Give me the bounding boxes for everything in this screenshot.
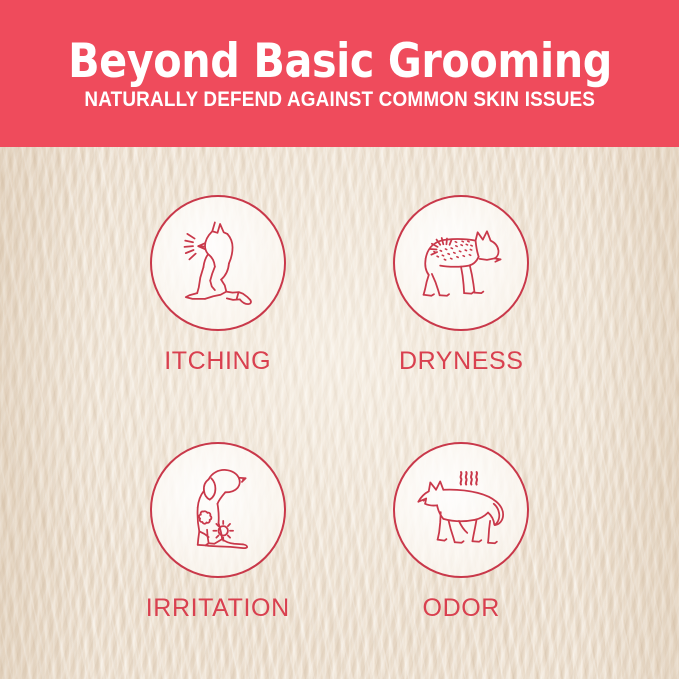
feature-item-irritation: IRRITATION [96,408,340,655]
feature-item-odor: ODOR [340,408,584,655]
feature-label-odor: ODOR [423,596,500,621]
feature-label-itching: ITCHING [164,349,271,374]
feature-icon-circle-dryness [393,195,529,331]
product-feature-poster: Beyond Basic Grooming NATURALLY DEFEND A… [0,0,679,679]
page-title: Beyond Basic Grooming [68,38,612,85]
feature-grid: ITCHING [0,147,679,679]
feature-icon-circle-odor [393,442,529,578]
dog-flaky-skin-icon [409,211,513,315]
feature-icon-circle-irritation [150,442,286,578]
feature-label-dryness: DRYNESS [399,349,524,374]
header-banner: Beyond Basic Grooming NATURALLY DEFEND A… [0,0,679,147]
feature-item-dryness: DRYNESS [340,161,584,408]
feature-label-irritation: IRRITATION [146,596,290,621]
page-subtitle: NATURALLY DEFEND AGAINST COMMON SKIN ISS… [84,89,595,110]
dog-irritated-patches-icon [166,458,270,562]
dog-scratching-icon [166,211,270,315]
dog-odor-waves-icon [409,458,513,562]
feature-item-itching: ITCHING [96,161,340,408]
feature-icon-circle-itching [150,195,286,331]
